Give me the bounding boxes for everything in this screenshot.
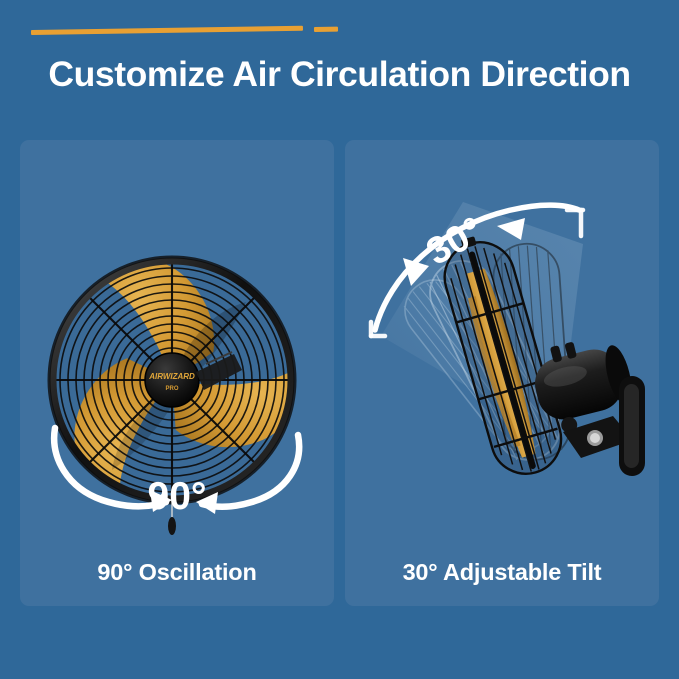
feature-card-grid: AIRWIZARD PRO: [0, 140, 679, 606]
fan-logo-text: AIRWIZARD: [148, 372, 195, 381]
oscillation-illustration: AIRWIZARD PRO: [20, 140, 334, 540]
fan-hub: AIRWIZARD PRO: [145, 353, 199, 407]
header: Customize Air Circulation Direction: [0, 0, 679, 135]
fan-logo-sub: PRO: [165, 386, 178, 392]
tilt-caption: 30° Adjustable Tilt: [345, 559, 659, 586]
feature-card-oscillation[interactable]: AIRWIZARD PRO: [20, 140, 334, 606]
accent-rule: [31, 26, 351, 38]
fan-side-view-graphic: 30°: [345, 140, 659, 540]
feature-card-tilt[interactable]: 30° 30° Adjustable Tilt: [345, 140, 659, 606]
accent-rule-long-segment: [31, 26, 303, 35]
accent-rule-short-segment: [314, 27, 338, 32]
tilt-illustration: 30°: [345, 140, 659, 540]
oscillation-angle-value: 90°: [148, 475, 207, 518]
page-title: Customize Air Circulation Direction: [0, 52, 679, 96]
oscillation-caption: 90° Oscillation: [20, 559, 334, 586]
fan-front-view-graphic: AIRWIZARD PRO: [20, 140, 334, 540]
